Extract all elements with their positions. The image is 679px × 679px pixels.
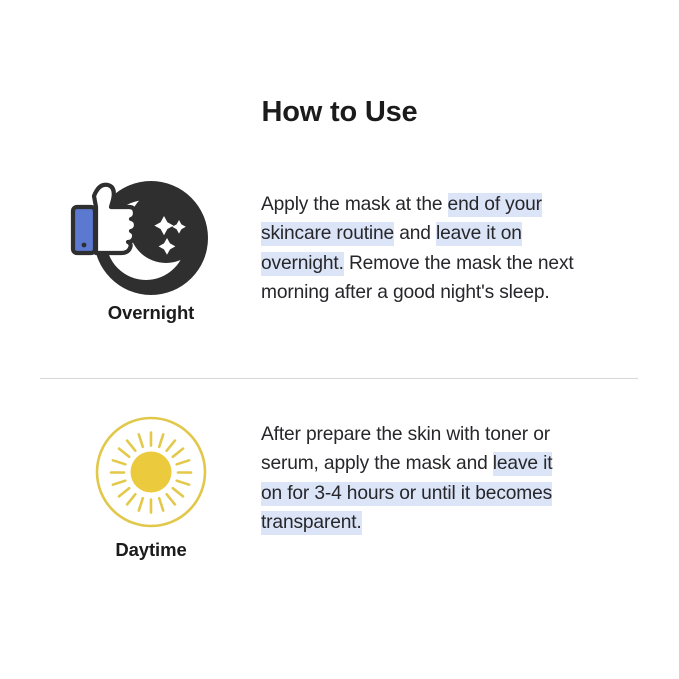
text-run: and: [394, 223, 436, 244]
page-title: How to Use: [0, 96, 679, 129]
daytime-label: Daytime: [63, 539, 239, 561]
text-run: Apply the mask at the: [261, 194, 448, 215]
daytime-icon-block: Daytime: [63, 410, 239, 561]
daytime-icon-wrap: [63, 410, 239, 530]
section-overnight: Overnight Apply the mask at the end of y…: [0, 176, 679, 356]
overnight-icon-wrap: [63, 176, 239, 296]
moon-thumbs-up-icon: [63, 176, 239, 296]
section-daytime: Daytime After prepare the skin with tone…: [0, 410, 679, 590]
how-to-use-panel: How to Use: [0, 0, 679, 679]
sun-icon: [63, 410, 239, 530]
daytime-description: After prepare the skin with toner or ser…: [261, 420, 561, 537]
overnight-icon-block: Overnight: [63, 176, 239, 324]
overnight-description: Apply the mask at the end of your skinca…: [261, 190, 591, 307]
section-divider: [40, 378, 638, 379]
overnight-label: Overnight: [63, 302, 239, 324]
